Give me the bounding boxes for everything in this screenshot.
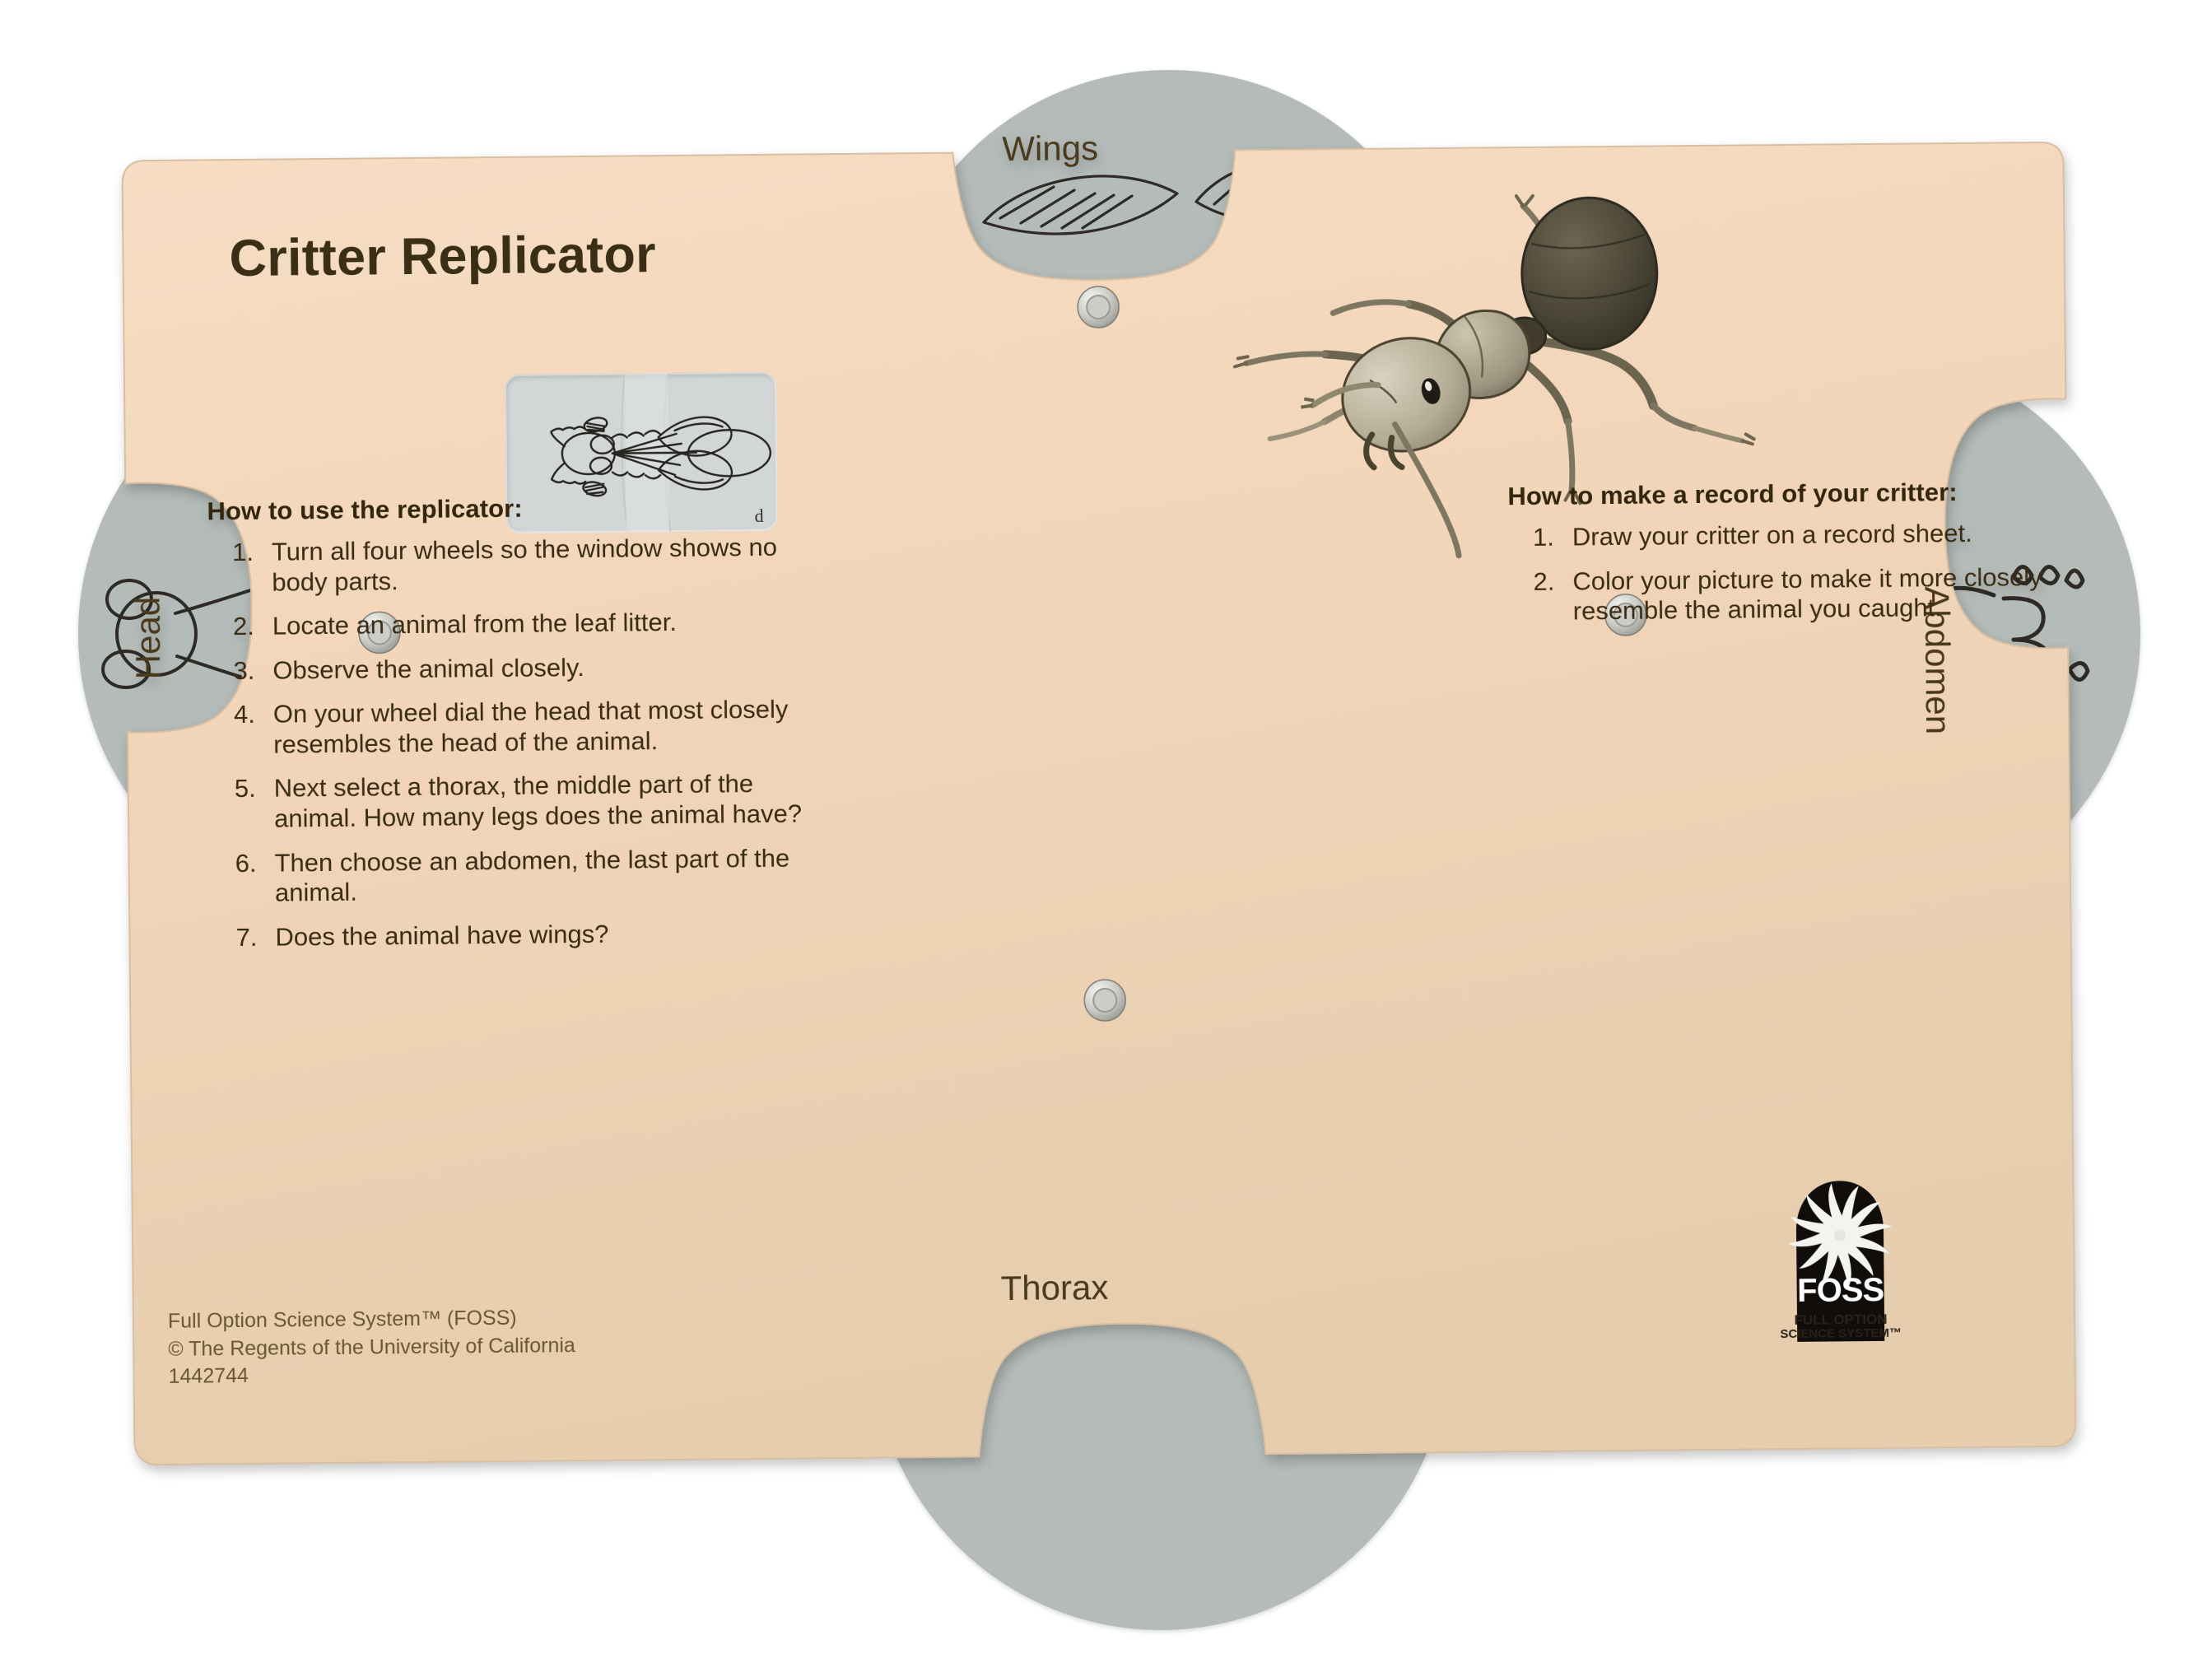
step-number: 6.	[210, 848, 275, 909]
step-number: 3.	[208, 655, 272, 686]
step-number: 2.	[208, 612, 272, 642]
step-text: Color your picture to make it more close…	[1572, 561, 2135, 627]
critter-replicator-card: Critter Replicator Wings Thorax Head Abd…	[117, 137, 2080, 1478]
wheel-label-head: Head	[128, 597, 169, 680]
wheel-label-thorax: Thorax	[1000, 1268, 1108, 1308]
how-to-use-block: How to use the replicator: 1.Turn all fo…	[207, 491, 803, 967]
grommet-thorax[interactable]	[1083, 978, 1128, 1023]
foss-tagline-1: FULL OPTION	[1794, 1311, 1887, 1328]
step-text: Turn all four wheels so the window shows…	[272, 532, 801, 597]
step-number: 7.	[211, 922, 275, 953]
how-to-use-heading: How to use the replicator:	[207, 491, 799, 526]
list-item: 4.On your wheel dial the head that most …	[209, 695, 803, 761]
colophon-line-3: 1442744	[168, 1359, 575, 1391]
step-number: 4.	[209, 700, 274, 761]
how-to-use-steps: 1.Turn all four wheels so the window sho…	[207, 532, 804, 953]
step-text: Draw your critter on a record sheet.	[1572, 517, 2134, 552]
foss-logo: FOSS FULL OPTION SCIENCE SYSTEM™	[1777, 1172, 1902, 1342]
list-item: 7.Does the animal have wings?	[211, 917, 803, 953]
step-number: 1.	[207, 538, 272, 599]
how-to-record-block: How to make a record of your critter: 1.…	[1507, 476, 2135, 641]
foss-tagline-2: SCIENCE SYSTEM™	[1780, 1326, 1902, 1341]
step-text: Observe the animal closely.	[272, 650, 801, 686]
list-item: 6.Then choose an abdomen, the last part …	[210, 843, 803, 909]
step-number: 5.	[210, 774, 275, 835]
step-text: Does the animal have wings?	[275, 917, 803, 953]
list-item: 5.Next select a thorax, the middle part …	[210, 769, 803, 835]
list-item: 2.Locate an animal from the leaf litter.	[208, 607, 801, 642]
list-item: 1.Turn all four wheels so the window sho…	[207, 532, 801, 598]
step-text: On your wheel dial the head that most cl…	[273, 695, 803, 760]
page-title: Critter Replicator	[229, 225, 656, 288]
step-text: Locate an animal from the leaf litter.	[272, 607, 801, 642]
list-item: 2.Color your picture to make it more clo…	[1508, 561, 2135, 627]
scene: Critter Replicator Wings Thorax Head Abd…	[0, 0, 2212, 1677]
how-to-record-steps: 1.Draw your critter on a record sheet. 2…	[1508, 517, 2135, 627]
colophon: Full Option Science System™ (FOSS) © The…	[168, 1304, 576, 1391]
list-item: 3.Observe the animal closely.	[208, 650, 801, 686]
step-text: Next select a thorax, the middle part of…	[274, 769, 803, 834]
step-number: 2.	[1508, 566, 1573, 627]
colophon-line-1: Full Option Science System™ (FOSS)	[168, 1304, 575, 1335]
grommet-wings[interactable]	[1076, 285, 1121, 330]
colophon-line-2: © The Regents of the University of Calif…	[168, 1332, 575, 1363]
how-to-record-heading: How to make a record of your critter:	[1507, 476, 2133, 511]
wheel-label-wings: Wings	[1002, 128, 1098, 169]
foss-acronym: FOSS	[1797, 1272, 1884, 1309]
list-item: 1.Draw your critter on a record sheet.	[1508, 517, 2134, 553]
step-text: Then choose an abdomen, the last part of…	[274, 843, 803, 908]
step-number: 1.	[1508, 522, 1572, 552]
